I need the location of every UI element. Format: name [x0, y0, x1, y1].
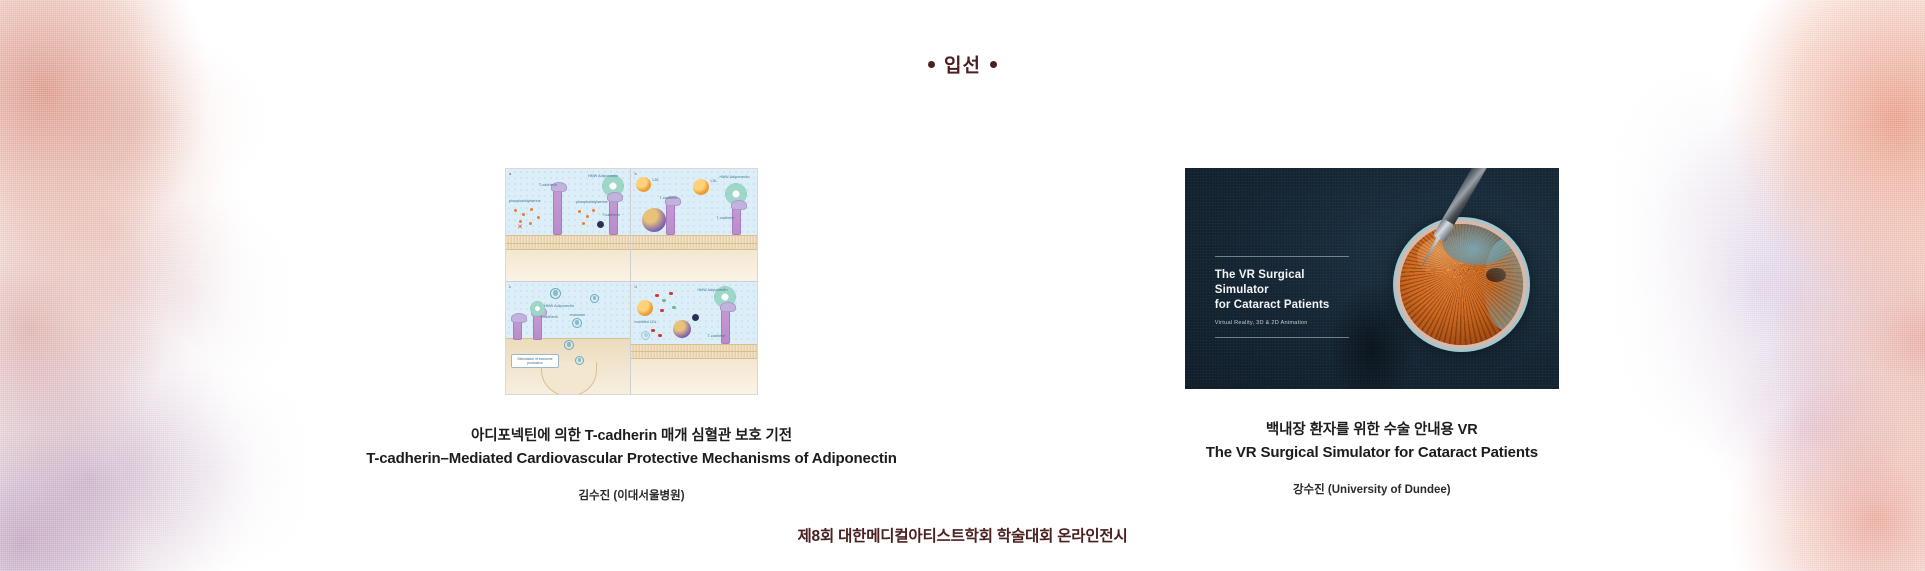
vr-slide-title-line1: The VR Surgical Simulator [1215, 269, 1305, 296]
panel-d-membrane [631, 344, 757, 359]
vr-slide-subtitle: Virtual Reality, 3D & 2D Animation [1215, 320, 1349, 326]
panel-c-label-exosome: exosome [570, 313, 585, 317]
panel-a-blocked-icon: ✕ [517, 224, 523, 231]
award-category-heading: 입선 [0, 56, 1925, 75]
panel-c-exosome-5 [575, 356, 584, 365]
panel-c-exosome-1 [550, 288, 561, 299]
panel-d-vesicle [641, 331, 650, 340]
panel-b-receptor-right [732, 205, 741, 235]
figure-panel-c: c exosome HMW Adiponectin T-cadherin Sti… [506, 282, 632, 395]
panel-c-exosome-4 [564, 340, 574, 350]
panel-d-tag: d [634, 284, 636, 289]
vr-rule-top [1215, 256, 1349, 257]
artwork-title-ko: 아디포넥틴에 의한 T-cadherin 매개 심혈관 보호 기전 [366, 425, 897, 447]
vr-slide-textblock: The VR Surgical Simulator for Cataract P… [1215, 256, 1349, 338]
sclera-rim [1484, 239, 1523, 331]
artwork-caption: 백내장 환자를 위한 수술 안내용 VR The VR Surgical Sim… [1206, 419, 1538, 497]
panel-a-cytoplasm [506, 250, 631, 282]
panel-b-cytoplasm [631, 250, 757, 282]
exhibition-footer: 제8회 대한메디컬아티스트학회 학술대회 온라인전시 [0, 524, 1925, 546]
panel-c-label-hmw: HMW Adiponectin [544, 304, 574, 308]
artwork-author: 김수진 (이대서울병원) [366, 487, 897, 503]
exhibition-page: 입선 a phosphatidylserine [0, 0, 1925, 571]
panel-a-membrane [506, 235, 631, 250]
panel-b-membrane [631, 235, 757, 250]
figure-vr-slide: The VR Surgical Simulator for Cataract P… [1185, 168, 1559, 389]
vr-slide-title: The VR Surgical Simulator for Cataract P… [1215, 268, 1349, 313]
figure-panel-a: a phosphatidylserine ✕ T-cadherin [506, 169, 632, 282]
panel-d-label-modified-ldl: modified LDL [634, 320, 656, 324]
figure-panel-b: b LDL T-cadherin LDL HMW Adiponectin T-c… [631, 169, 757, 282]
vr-rule-bottom [1215, 337, 1349, 338]
artwork-thumbnail-vr-cataract[interactable]: The VR Surgical Simulator for Cataract P… [1185, 168, 1559, 389]
heading-dot-left-icon [928, 61, 935, 68]
panel-a-label-hmw: HMW Adiponectin [588, 174, 618, 178]
panel-d-label-tcadherin: T-cadherin [707, 334, 725, 338]
figure-adiponectin: a phosphatidylserine ✕ T-cadherin [505, 168, 758, 395]
heading-dot-right-icon [990, 61, 997, 68]
panel-d-receptor [721, 307, 730, 344]
panel-c-exosome-2 [590, 294, 599, 303]
panel-b-receptor-left [666, 201, 675, 235]
artwork-caption: 아디포넥틴에 의한 T-cadherin 매개 심혈관 보호 기전 T-cadh… [366, 425, 897, 503]
panel-a-label-phosphatidylserine-right: phosphatidylserine [576, 200, 608, 204]
panel-c-adiponectin [530, 301, 545, 316]
panel-c-extracellular [506, 282, 631, 338]
panel-b-label-ldl-right: LDL [710, 179, 717, 183]
vr-slide-title-line2: for Cataract Patients [1215, 299, 1330, 311]
panel-a-receptor-left [553, 187, 562, 235]
panel-d-ldl-receptor-complex [673, 320, 691, 338]
panel-b-label-tcadherin-right: T-cadherin [716, 216, 734, 220]
panel-c-callout-stimulation: Stimulation of exosome production [511, 354, 559, 369]
exhibition-entry[interactable]: The VR Surgical Simulator for Cataract P… [1185, 168, 1559, 497]
panel-a-tag: a [509, 171, 511, 176]
panel-b-label-ldl-left: LDL [652, 178, 659, 182]
exhibition-gallery: a phosphatidylserine ✕ T-cadherin [0, 168, 1925, 503]
artwork-title-en: T-cadherin–Mediated Cardiovascular Prote… [366, 447, 897, 470]
artwork-author: 강수진 (University of Dundee) [1206, 481, 1538, 497]
panel-b-label-hmw: HMW Adiponectin [719, 175, 749, 179]
panel-c-tag: c [509, 284, 511, 289]
panel-d-cytoplasm [631, 359, 757, 395]
artwork-thumbnail-adiponectin[interactable]: a phosphatidylserine ✕ T-cadherin [505, 168, 758, 395]
panel-a-label-tcadherin-left: T-cadherin [539, 183, 557, 187]
panel-a-label-tcadherin-right: T-cadherin [602, 213, 620, 217]
award-category-label: 입선 [944, 55, 981, 76]
panel-c-receptor-free [513, 318, 522, 340]
panel-d-modified-ldl [637, 300, 653, 316]
panel-c-exosome-3 [572, 318, 582, 328]
panel-c-label-tcadherin: T-cadherin [540, 315, 558, 319]
figure-panel-d: d modified LDL HM [631, 282, 757, 395]
panel-a-label-phosphatidylserine-left: phosphatidylserine [509, 199, 541, 203]
panel-d-label-hmw: HMW Adiponectin [697, 288, 727, 292]
panel-b-label-tcadherin-left: T-cadherin [659, 196, 677, 200]
eye-cross-section-illustration [1400, 224, 1523, 345]
artwork-title-ko: 백내장 환자를 위한 수술 안내용 VR [1206, 419, 1538, 441]
panel-a-dark-particle [597, 221, 604, 228]
panel-b-tag: b [634, 171, 636, 176]
artwork-title-en: The VR Surgical Simulator for Cataract P… [1206, 441, 1538, 464]
exhibition-entry[interactable]: a phosphatidylserine ✕ T-cadherin [366, 168, 897, 503]
